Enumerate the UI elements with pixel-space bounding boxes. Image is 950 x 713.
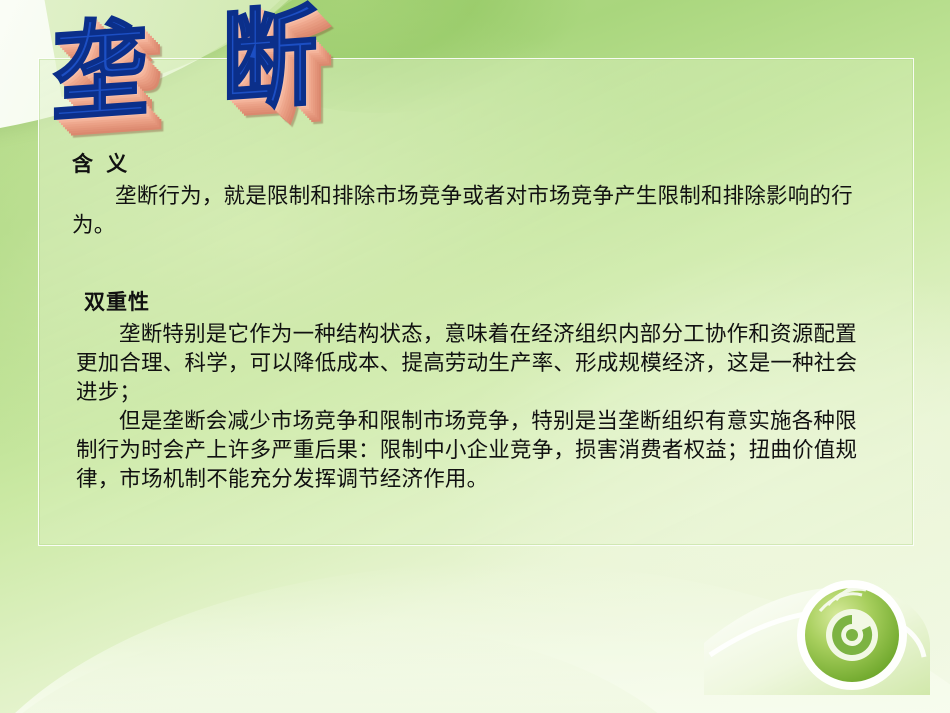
section-spacer [72,240,872,286]
slide-body: 含 义 垄断行为，就是限制和排除市场竞争或者对市场竞争产生限制和排除影响的行为。… [72,148,872,494]
section-definition: 含 义 垄断行为，就是限制和排除市场竞争或者对市场竞争产生限制和排除影响的行为。 [72,148,872,240]
slide-title-text: 垄 断 [52,0,337,141]
section-duality-paragraph-2: 但是垄断会减少市场竞争和限制市场竞争，特别是当垄断组织有意实施各种限制行为时会产… [76,407,872,494]
slide-canvas: 垄 断 含 义 垄断行为，就是限制和排除市场竞争或者对市场竞争产生限制和排除影响… [0,0,950,713]
section-duality-paragraph-1: 垄断特别是它作为一种结构状态，意味着在经济组织内部分工协作和资源配置更加合理、科… [76,320,872,407]
section-definition-paragraph: 垄断行为，就是限制和排除市场竞争或者对市场竞争产生限制和排除影响的行为。 [72,182,872,240]
section-definition-heading: 含 义 [72,148,872,178]
slide-title-wordart: 垄 断 [52,16,852,146]
section-duality: 双重性 垄断特别是它作为一种结构状态，意味着在经济组织内部分工协作和资源配置更加… [76,286,872,494]
section-duality-heading: 双重性 [84,286,872,316]
